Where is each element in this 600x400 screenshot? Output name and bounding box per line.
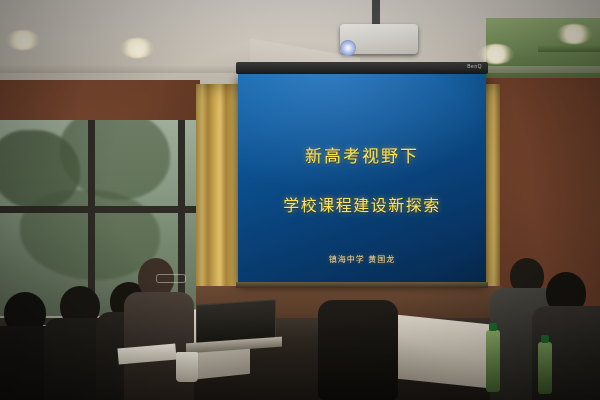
slide-author: 镇海中学 黄国龙 [238, 254, 486, 265]
screen-bottom-edge [236, 282, 488, 288]
ceiling-light [478, 44, 514, 64]
ceiling-light [120, 38, 154, 58]
paper-cup [176, 352, 198, 382]
water-bottle [486, 330, 500, 392]
slide-subtitle: 学校课程建设新探索 [238, 192, 486, 216]
bottle-cap [489, 323, 497, 331]
screen-glow [238, 74, 486, 200]
ceiling-beam [538, 44, 600, 52]
photo-canvas: BenQ 新高考视野下 学校课程建设新探索 镇海中学 黄国龙 [0, 0, 600, 400]
office-chair [318, 300, 398, 400]
projection-screen-housing: BenQ [236, 62, 488, 74]
projector-lens-icon [340, 40, 356, 56]
glasses-icon [156, 274, 186, 283]
bottle-cap [541, 335, 549, 343]
ceiling-light [6, 30, 40, 50]
window-frame-horizontal [0, 206, 200, 213]
slide-title: 新高考视野下 [238, 142, 486, 167]
ceiling-light [556, 24, 592, 44]
water-bottle [538, 342, 552, 394]
screen-brand-label: BenQ [467, 64, 482, 70]
projection-screen: 新高考视野下 学校课程建设新探索 镇海中学 黄国龙 [238, 74, 486, 284]
projector-mount [372, 0, 380, 26]
